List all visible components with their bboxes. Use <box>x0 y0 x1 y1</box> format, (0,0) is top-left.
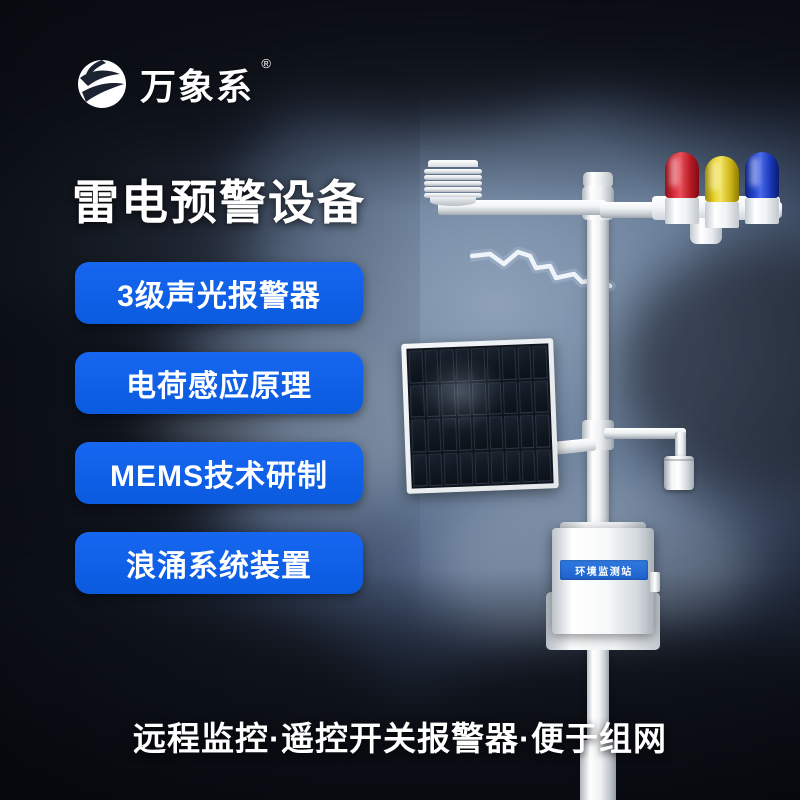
control-box-latch <box>650 572 660 592</box>
red-lamp-base <box>665 198 699 224</box>
solar-cell <box>503 381 518 414</box>
solar-cell <box>472 382 487 415</box>
solar-cell <box>521 449 536 482</box>
lower-sensor-arm <box>604 428 686 439</box>
radiation-shield-sensor <box>424 160 482 204</box>
solar-cell <box>411 419 426 452</box>
solar-cell <box>489 416 504 449</box>
solar-cell <box>424 350 439 383</box>
blue-lamp-dome <box>745 152 779 198</box>
solar-cell <box>506 450 521 483</box>
solar-cell <box>425 384 440 417</box>
registered-trademark-mark: ® <box>261 56 271 71</box>
mast-pole <box>587 178 609 758</box>
solar-cell <box>459 452 474 485</box>
yellow-alarm-light <box>705 156 739 228</box>
shield-bottom-cup <box>430 197 476 206</box>
feature-pill-4-label: 浪涌系统装置 <box>126 541 312 585</box>
solar-cell <box>456 383 471 416</box>
feature-pill-3[interactable]: MEMS技术研制 <box>75 442 363 504</box>
solar-cell <box>458 417 473 450</box>
solar-cell <box>535 414 550 447</box>
blue-alarm-light <box>745 152 779 224</box>
solar-cell <box>502 347 517 380</box>
solar-cell <box>473 417 488 450</box>
yellow-lamp-base <box>705 202 739 228</box>
solar-cell <box>533 345 548 378</box>
yellow-lamp-dome <box>705 156 739 202</box>
feature-pill-3-label: MEMS技术研制 <box>110 451 328 495</box>
solar-cell <box>534 380 549 413</box>
banner-canvas: 环境监测站 万象系® 雷电预警设备 3级声光报警器 电荷感应原理 MEMS技术研… <box>0 0 800 800</box>
solar-cell <box>487 382 502 415</box>
solar-cell-grid <box>406 343 553 488</box>
solar-cell <box>537 449 552 482</box>
solar-cell <box>442 418 457 451</box>
feature-pill-1[interactable]: 3级声光报警器 <box>75 262 363 324</box>
solar-cell <box>412 454 427 487</box>
solar-cell <box>517 346 532 379</box>
red-alarm-light <box>665 152 699 224</box>
solar-cell <box>504 416 519 449</box>
feature-pill-2-label: 电荷感应原理 <box>126 361 312 405</box>
solar-cell <box>486 347 501 380</box>
solar-cell <box>455 348 470 381</box>
solar-cell <box>440 349 455 382</box>
solar-cell <box>408 350 423 383</box>
page-title: 雷电预警设备 <box>72 164 366 233</box>
shield-louver-4 <box>424 187 482 192</box>
solar-cell <box>410 385 425 418</box>
solar-cell <box>519 380 534 413</box>
blue-lamp-base <box>745 198 779 224</box>
solar-cell <box>427 419 442 452</box>
solar-panel <box>401 338 559 494</box>
brand-logo: 万象系® <box>76 58 254 110</box>
shield-louver-3 <box>424 181 482 186</box>
control-box-label: 环境监测站 <box>560 560 648 580</box>
feature-pill-2[interactable]: 电荷感应原理 <box>75 352 363 414</box>
feature-pill-1-label: 3级声光报警器 <box>117 271 321 315</box>
solar-cell <box>520 415 535 448</box>
red-lamp-dome <box>665 152 699 198</box>
brand-name: 万象系® <box>140 58 254 110</box>
solar-cell <box>428 453 443 486</box>
feature-pill-4[interactable]: 浪涌系统装置 <box>75 532 363 594</box>
feature-list: 3级声光报警器 电荷感应原理 MEMS技术研制 浪涌系统装置 <box>75 262 363 622</box>
solar-cell <box>444 452 459 485</box>
shield-louver-1 <box>424 169 482 174</box>
brand-name-text: 万象系 <box>140 66 254 107</box>
shield-top-plate <box>428 160 478 167</box>
solar-cell <box>471 348 486 381</box>
cylindrical-sensor <box>664 456 694 490</box>
solar-cell <box>441 383 456 416</box>
swirl-globe-logo-icon <box>76 58 128 110</box>
control-box-label-text: 环境监测站 <box>575 563 633 578</box>
solar-cell <box>490 451 505 484</box>
shield-louver-2 <box>424 175 482 180</box>
footer-tagline: 远程监控·遥控开关报警器·便于组网 <box>133 712 667 760</box>
solar-cell <box>475 451 490 484</box>
control-box <box>552 528 654 634</box>
